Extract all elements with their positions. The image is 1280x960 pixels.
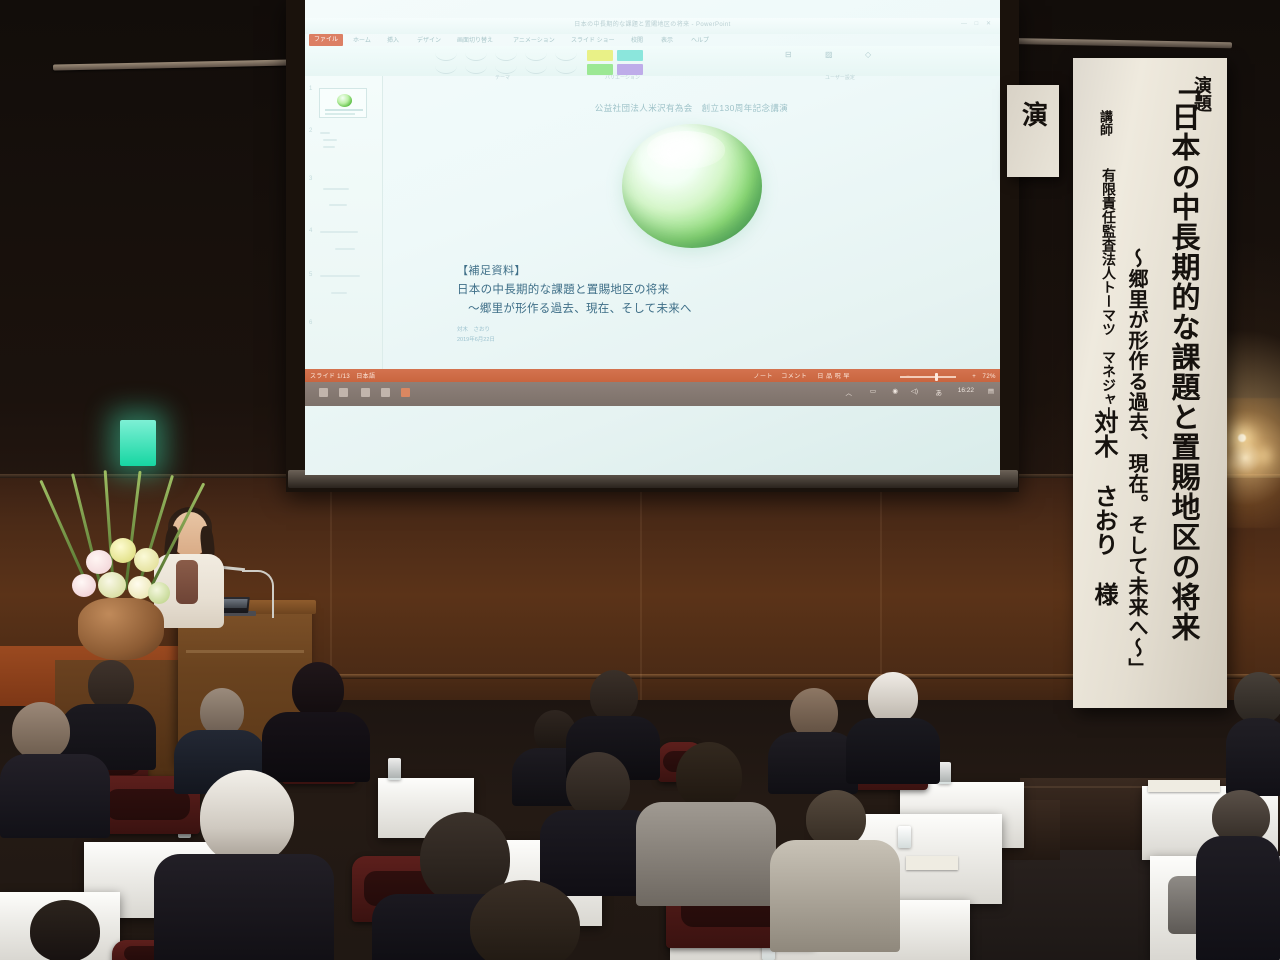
audience-head bbox=[292, 662, 344, 718]
outline-slide-number[interactable]: 3 bbox=[309, 176, 312, 182]
tab-transitions[interactable]: 画面切り替え bbox=[457, 35, 493, 44]
tab-animations[interactable]: アニメーション bbox=[513, 35, 555, 44]
ppt-ribbon-tabs[interactable]: ファイル ホーム 挿入 デザイン 画面切り替え アニメーション スライド ショー… bbox=[305, 34, 1000, 46]
audience-member bbox=[846, 672, 940, 780]
tab-insert[interactable]: 挿入 bbox=[387, 35, 399, 44]
slide-date: 2019年6月22日 bbox=[457, 335, 692, 343]
theme-thumb[interactable] bbox=[525, 65, 547, 74]
audience-body bbox=[1226, 718, 1280, 796]
audience-head bbox=[200, 770, 294, 864]
ppt-window-title: 日本の中長期的な課題と置賜地区の将来 - PowerPoint bbox=[574, 19, 730, 28]
audience-head bbox=[1234, 672, 1280, 724]
audience-body bbox=[768, 732, 858, 794]
tab-design[interactable]: デザイン bbox=[417, 35, 441, 44]
outline-bullet bbox=[320, 275, 360, 277]
folder-icon[interactable]: ▭ bbox=[870, 387, 876, 395]
flower bbox=[148, 582, 170, 604]
audience-member bbox=[1226, 672, 1280, 792]
zoom-level[interactable]: 72% bbox=[982, 374, 996, 380]
conference-hall-photo: 日本の中長期的な課題と置賜地区の将来 - PowerPoint — □ ✕ ファ… bbox=[0, 0, 1280, 960]
audience-body bbox=[846, 718, 940, 784]
window-controls[interactable]: — □ ✕ bbox=[961, 20, 994, 27]
audience-head bbox=[470, 880, 580, 960]
slide-header-text: 公益社団法人米沢有為会 創立130周年記念講演 bbox=[595, 102, 788, 114]
foliage bbox=[148, 482, 205, 590]
banner-subtitle: 〜郷里が形作る過去、現在。そして未来へ〜」 bbox=[1122, 248, 1151, 679]
theme-thumb[interactable] bbox=[465, 65, 487, 74]
action-center-icon[interactable]: ▤ bbox=[988, 387, 994, 395]
banner-speaker-name: 対木 さおり 様 bbox=[1086, 410, 1121, 606]
status-comments-button[interactable]: コメント bbox=[781, 374, 807, 380]
audience-head bbox=[790, 688, 838, 738]
projected-powerpoint-window: 日本の中長期的な課題と置賜地区の将来 - PowerPoint — □ ✕ ファ… bbox=[305, 0, 1000, 475]
theme-thumb[interactable] bbox=[495, 52, 517, 61]
side-banner: 演 bbox=[1007, 85, 1059, 177]
outline-bullet bbox=[323, 188, 349, 190]
status-notes-button[interactable]: ノート bbox=[754, 374, 774, 380]
slide-title-line2: 〜郷里が形作る過去、現在、そして未来へ bbox=[468, 300, 692, 316]
main-program-banner: 演題 「日本の中長期的な課題と置賜地区の将来 〜郷里が形作る過去、現在。そして未… bbox=[1073, 58, 1227, 708]
banner-speaker-label: 講師 bbox=[1096, 110, 1115, 136]
taskbar-explorer-icon[interactable] bbox=[381, 388, 390, 397]
slide-author: 対木 さおり bbox=[457, 325, 692, 333]
audience-head bbox=[12, 702, 70, 760]
audience-body bbox=[1196, 836, 1280, 960]
paper-handout bbox=[906, 856, 958, 870]
audience-member bbox=[154, 770, 334, 960]
chevron-up-icon[interactable]: ︿ bbox=[846, 387, 853, 397]
slide-size-icon[interactable]: ⊟ bbox=[785, 50, 792, 59]
network-icon[interactable]: ◉ bbox=[892, 387, 898, 395]
status-view-buttons[interactable]: 日 品 呪 早 bbox=[817, 374, 850, 380]
audience-body bbox=[154, 854, 334, 960]
water-glass bbox=[388, 758, 401, 780]
slide-thumbnail-1[interactable] bbox=[319, 88, 367, 118]
audience-member bbox=[770, 790, 900, 950]
start-button-icon[interactable] bbox=[319, 388, 328, 397]
audience-head bbox=[30, 900, 100, 960]
theme-thumb[interactable] bbox=[495, 65, 517, 74]
ppt-status-bar[interactable]: スライド 1/13 日本語 ノート コメント 日 品 呪 早 − + 72% bbox=[305, 369, 1000, 382]
zoom-slider-handle[interactable] bbox=[935, 373, 938, 381]
audience-member bbox=[1196, 790, 1280, 960]
audience-head bbox=[590, 670, 638, 722]
tab-file[interactable]: ファイル bbox=[309, 34, 343, 46]
outline-bullet bbox=[323, 139, 337, 141]
taskbar-clock[interactable]: 16:22 bbox=[958, 387, 974, 394]
flower bbox=[134, 548, 159, 572]
zoom-in-button[interactable]: + bbox=[972, 374, 976, 380]
outline-slide-number[interactable]: 2 bbox=[309, 128, 312, 134]
audience-member bbox=[0, 900, 130, 960]
audience-member bbox=[416, 880, 632, 960]
volume-icon[interactable]: ◁) bbox=[911, 387, 918, 395]
audience-body bbox=[770, 840, 900, 952]
zoom-slider-track[interactable] bbox=[900, 376, 956, 378]
outline-bullet bbox=[320, 132, 330, 134]
theme-thumb[interactable] bbox=[435, 65, 457, 74]
variant-yellow[interactable] bbox=[587, 50, 613, 61]
floral-arrangement bbox=[48, 430, 198, 660]
outline-slide-number[interactable]: 4 bbox=[309, 228, 312, 234]
outline-bullet bbox=[320, 231, 358, 233]
outline-bullet bbox=[331, 292, 347, 294]
outline-slide-number[interactable]: 1 bbox=[309, 86, 312, 92]
audience-head bbox=[566, 752, 630, 818]
theme-thumb[interactable] bbox=[465, 52, 487, 61]
audience-member bbox=[262, 662, 370, 774]
outline-bullet bbox=[323, 146, 335, 148]
foliage bbox=[124, 471, 142, 590]
green-sphere-logo bbox=[622, 124, 762, 248]
theme-thumb[interactable] bbox=[555, 52, 577, 61]
taskbar-powerpoint-icon[interactable] bbox=[401, 388, 410, 397]
thumb-text-line bbox=[325, 109, 363, 111]
vase bbox=[78, 598, 164, 660]
slide-tag: 【補足資料】 bbox=[457, 262, 692, 278]
format-background-icon[interactable]: ▨ bbox=[825, 50, 833, 59]
theme-thumb[interactable] bbox=[555, 65, 577, 74]
outline-bullet bbox=[335, 248, 355, 250]
banner-organization: 有限責任監査法人トーマツ マネジャー bbox=[1097, 168, 1117, 420]
outline-slide-number[interactable]: 6 bbox=[309, 320, 312, 326]
outline-bullet bbox=[329, 204, 347, 206]
audience-head bbox=[676, 742, 742, 810]
audience-member bbox=[636, 742, 776, 898]
taskbar-app-icon[interactable] bbox=[339, 388, 348, 397]
ime-indicator[interactable]: あ bbox=[936, 387, 943, 397]
flower bbox=[86, 550, 112, 574]
slide-title-block: 【補足資料】 日本の中長期的な課題と置賜地区の将来 〜郷里が形作る過去、現在、そ… bbox=[457, 262, 692, 343]
microphone-stand bbox=[242, 570, 274, 618]
audience-body bbox=[0, 754, 110, 838]
audience-member bbox=[0, 702, 110, 832]
flower bbox=[98, 572, 126, 598]
taskbar-browser-icon[interactable] bbox=[361, 388, 370, 397]
audience-body bbox=[636, 802, 776, 906]
variant-teal[interactable] bbox=[617, 50, 643, 61]
theme-thumb[interactable] bbox=[525, 52, 547, 61]
ppt-ribbon[interactable]: ⊟ ▨ ◇ テーマ バリエーション ユーザー設定 bbox=[305, 46, 1000, 76]
ppt-title-bar: 日本の中長期的な課題と置賜地区の将来 - PowerPoint — □ ✕ bbox=[305, 18, 1000, 34]
audience-member bbox=[768, 688, 858, 788]
slide-outline-pane[interactable]: 1 2 3 4 5 6 bbox=[305, 76, 383, 369]
slide-title-line1: 日本の中長期的な課題と置賜地区の将来 bbox=[457, 281, 692, 297]
slide-editing-canvas[interactable]: 公益社団法人米沢有為会 創立130周年記念講演 【補足資料】 日本の中長期的な課… bbox=[383, 76, 1000, 369]
audience-head bbox=[200, 688, 244, 736]
banner-title: 「日本の中長期的な課題と置賜地区の将来 bbox=[1168, 72, 1197, 642]
tab-home[interactable]: ホーム bbox=[353, 35, 371, 44]
windows-taskbar[interactable]: ︿ ▭ ◉ ◁) あ 16:22 ▤ bbox=[305, 382, 1000, 406]
thumb-text-line bbox=[325, 113, 355, 115]
design-ideas-icon[interactable]: ◇ bbox=[865, 50, 871, 59]
flower bbox=[72, 574, 96, 597]
outline-slide-number[interactable]: 5 bbox=[309, 272, 312, 278]
tab-slideshow[interactable]: スライド ショー bbox=[571, 35, 615, 44]
audience-head bbox=[868, 672, 918, 724]
theme-thumb[interactable] bbox=[435, 52, 457, 61]
tab-help[interactable]: ヘルプ bbox=[691, 35, 709, 44]
tab-view[interactable]: 表示 bbox=[661, 35, 673, 44]
flower bbox=[110, 538, 136, 563]
tab-review[interactable]: 校閲 bbox=[631, 35, 643, 44]
status-slide-indicator: スライド 1/13 日本語 bbox=[310, 371, 375, 380]
sphere-icon bbox=[337, 94, 352, 107]
side-banner-text: 演 bbox=[1015, 101, 1052, 127]
